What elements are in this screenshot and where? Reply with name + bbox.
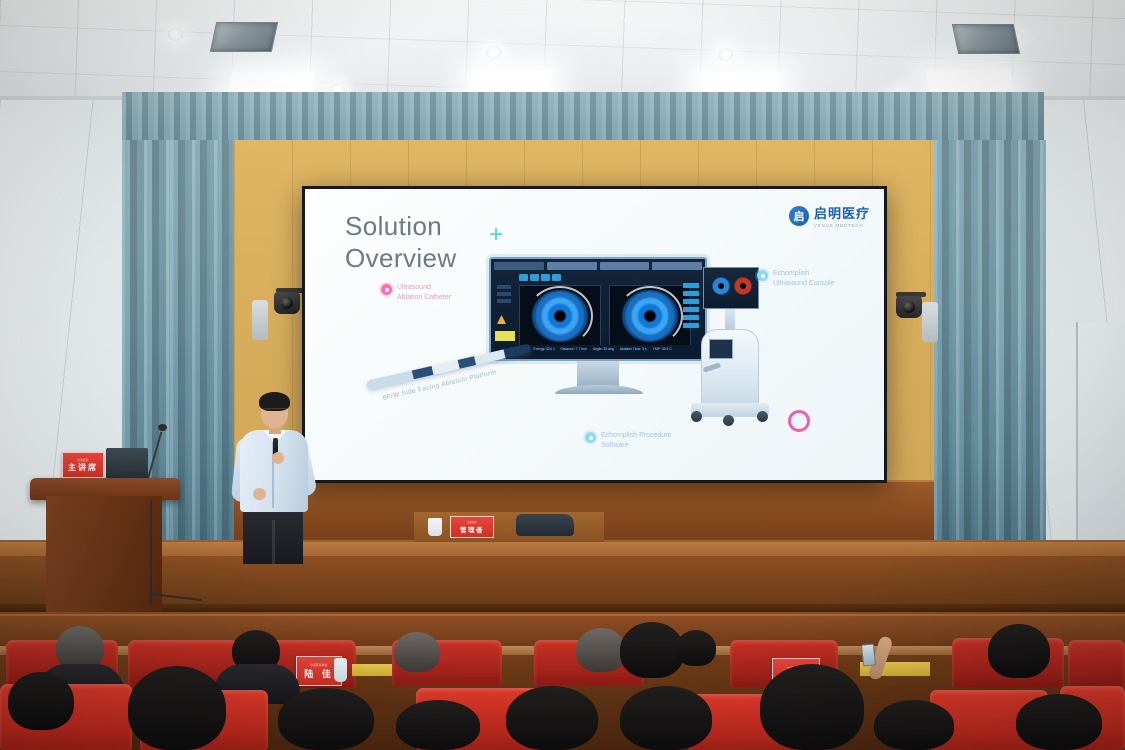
- projection-screen: Solution Overview + 启 启明医疗 VENUS MEDTECH: [302, 186, 887, 483]
- status-temperature: TMP: 36.5 C: [653, 345, 672, 354]
- name-card-name: 陆 佳: [304, 667, 334, 680]
- monitor-right-controls: [683, 283, 699, 328]
- floor-cable-vertical: [150, 500, 152, 604]
- stage-table: [414, 512, 604, 542]
- callout-echomplish-ultrasound-console: Echomplish Ultrasound Console: [757, 269, 834, 289]
- audience-head-front: [128, 666, 226, 750]
- monitor-tab-3: [600, 262, 650, 270]
- ivus-arc-right: [617, 286, 683, 346]
- audience-head-front: [760, 664, 864, 750]
- console-cart-screen: [703, 267, 759, 309]
- status-angle: Angle: 35 deg: [593, 345, 614, 354]
- callout-text: Echomplish Ultrasound Console: [773, 269, 834, 289]
- cart-wheel-left: [691, 411, 702, 422]
- podium-body: [46, 496, 162, 624]
- monitor-tab-2: [547, 262, 597, 270]
- audience-head: [988, 624, 1050, 678]
- podium-microphone-head: [158, 424, 167, 431]
- slide-title-line1: Solution: [345, 211, 457, 243]
- stage-table-bag: [516, 514, 574, 536]
- monitor-button-4: [552, 274, 561, 281]
- callout-dot-icon: [585, 432, 596, 443]
- monitor-button-2: [530, 274, 539, 281]
- callout-line2: Ultrasound Console: [773, 280, 834, 287]
- cart-wheel-right: [757, 411, 768, 422]
- water-bottle: [334, 658, 347, 682]
- monitor-base: [555, 385, 643, 394]
- monitor-toolbar: [494, 262, 702, 270]
- presenter-hand-left: [253, 488, 266, 500]
- ivus-image-right: [609, 285, 691, 347]
- presenter-hand-right: [272, 452, 284, 464]
- audience-head: [576, 628, 626, 672]
- audience-head-front: [396, 700, 480, 750]
- toolbar-item: [497, 292, 511, 296]
- slide-title-line2: Overview: [345, 243, 457, 275]
- control-bar: [683, 299, 699, 304]
- audience-head: [676, 630, 716, 666]
- toolbar-item: [497, 285, 511, 289]
- audience-head-front: [278, 688, 374, 750]
- ivus-image-left: [519, 285, 601, 347]
- control-bar: [683, 315, 699, 320]
- callout-text: Ultrasound Ablation Catheter: [397, 283, 451, 303]
- callout-line2: Software: [601, 442, 629, 449]
- plus-icon: +: [486, 225, 506, 245]
- ceiling-downlight-4: [486, 46, 501, 59]
- callout-text: Echomplish Procedure Software: [601, 431, 671, 451]
- audience-desk-pad-2: [352, 664, 392, 676]
- auditorium-scene: Solution Overview + 启 启明医疗 VENUS MEDTECH: [0, 0, 1125, 750]
- cart-image-left: [712, 277, 730, 295]
- presenter-leg-split: [272, 520, 275, 564]
- audience-head-front: [8, 672, 74, 730]
- callout-line1: Echomplish Procedure: [601, 432, 671, 439]
- monitor-button-1: [519, 274, 528, 281]
- audience-head: [394, 632, 440, 672]
- callout-echomplish-procedure-software: Echomplish Procedure Software: [585, 431, 671, 451]
- monitor-button-row: [519, 274, 561, 281]
- presentation-slide: Solution Overview + 启 启明医疗 VENUS MEDTECH: [305, 189, 884, 480]
- cart-wheel-mid: [723, 415, 734, 426]
- wall-speaker-right: [922, 302, 938, 342]
- status-distance: Distance: 7.7 mm: [560, 345, 586, 354]
- audience-head-front: [620, 686, 712, 750]
- presenter-glasses: [263, 408, 286, 413]
- audience-head-front: [1016, 694, 1102, 750]
- monitor-stand: [577, 361, 619, 387]
- company-logo: 启 启明医疗 VENUS MEDTECH: [789, 203, 870, 228]
- ptz-camera-right: [896, 296, 922, 318]
- toolbar-item: [497, 299, 511, 303]
- stage-curtain-left-inner: [170, 140, 240, 540]
- console-cart-control-panel: [709, 339, 733, 359]
- callout-line2: Ablation Catheter: [397, 294, 451, 301]
- control-bar: [683, 323, 699, 328]
- control-bar: [683, 283, 699, 288]
- logo-text: 启明医疗 VENUS MEDTECH: [814, 203, 870, 228]
- logo-name-cn: 启明医疗: [814, 206, 870, 221]
- ceiling-air-vent-right: [952, 24, 1020, 54]
- monitor-note-block: [495, 331, 515, 341]
- wall-speaker-left: [252, 300, 268, 340]
- cart-image-right: [734, 277, 752, 295]
- callout-dot-icon: [381, 284, 392, 295]
- audience-head: [620, 622, 684, 678]
- callout-line1: Ultrasound: [397, 284, 431, 291]
- logo-name-en: VENUS MEDTECH: [814, 223, 870, 228]
- podium-laptop[interactable]: [106, 448, 148, 480]
- monitor-tab-1: [494, 262, 544, 270]
- callout-dot-icon: [757, 270, 768, 281]
- console-cart-neck: [725, 309, 735, 331]
- ivus-arc-left: [527, 286, 593, 346]
- ceiling-downlight-6: [718, 48, 733, 61]
- control-bar: [683, 307, 699, 312]
- ceiling-air-vent-left: [210, 22, 278, 52]
- monitor-button-3: [541, 274, 550, 281]
- monitor-tab-4: [652, 262, 702, 270]
- stage-table-cup: [428, 518, 442, 536]
- status-ablation-time: Ablation Time: 5 s: [620, 345, 647, 354]
- control-bar: [683, 291, 699, 296]
- ptz-camera-left: [274, 292, 300, 314]
- audience-head-front: [506, 686, 598, 750]
- callout-ultrasound-ablation-catheter: Ultrasound Ablation Catheter: [381, 283, 451, 303]
- audience-head-front: [874, 700, 954, 750]
- podium-name-card: 主讲嘉宾 主讲席: [62, 452, 104, 478]
- ceiling-downlight-1: [168, 28, 183, 41]
- audience-phone[interactable]: [861, 643, 876, 666]
- decorative-ring: [788, 410, 810, 432]
- table-card-name: 管理者: [460, 524, 484, 534]
- podium-card-name: 主讲席: [68, 462, 98, 473]
- callout-line1: Echomplish: [773, 270, 809, 277]
- audience-seat[interactable]: [1068, 640, 1125, 688]
- slide-title: Solution Overview: [345, 211, 457, 274]
- logo-mark-icon: 启: [789, 206, 809, 226]
- stage-table-name-card: 会议席位 管理者: [450, 516, 494, 538]
- status-energy: Energy: 424 J: [534, 345, 555, 354]
